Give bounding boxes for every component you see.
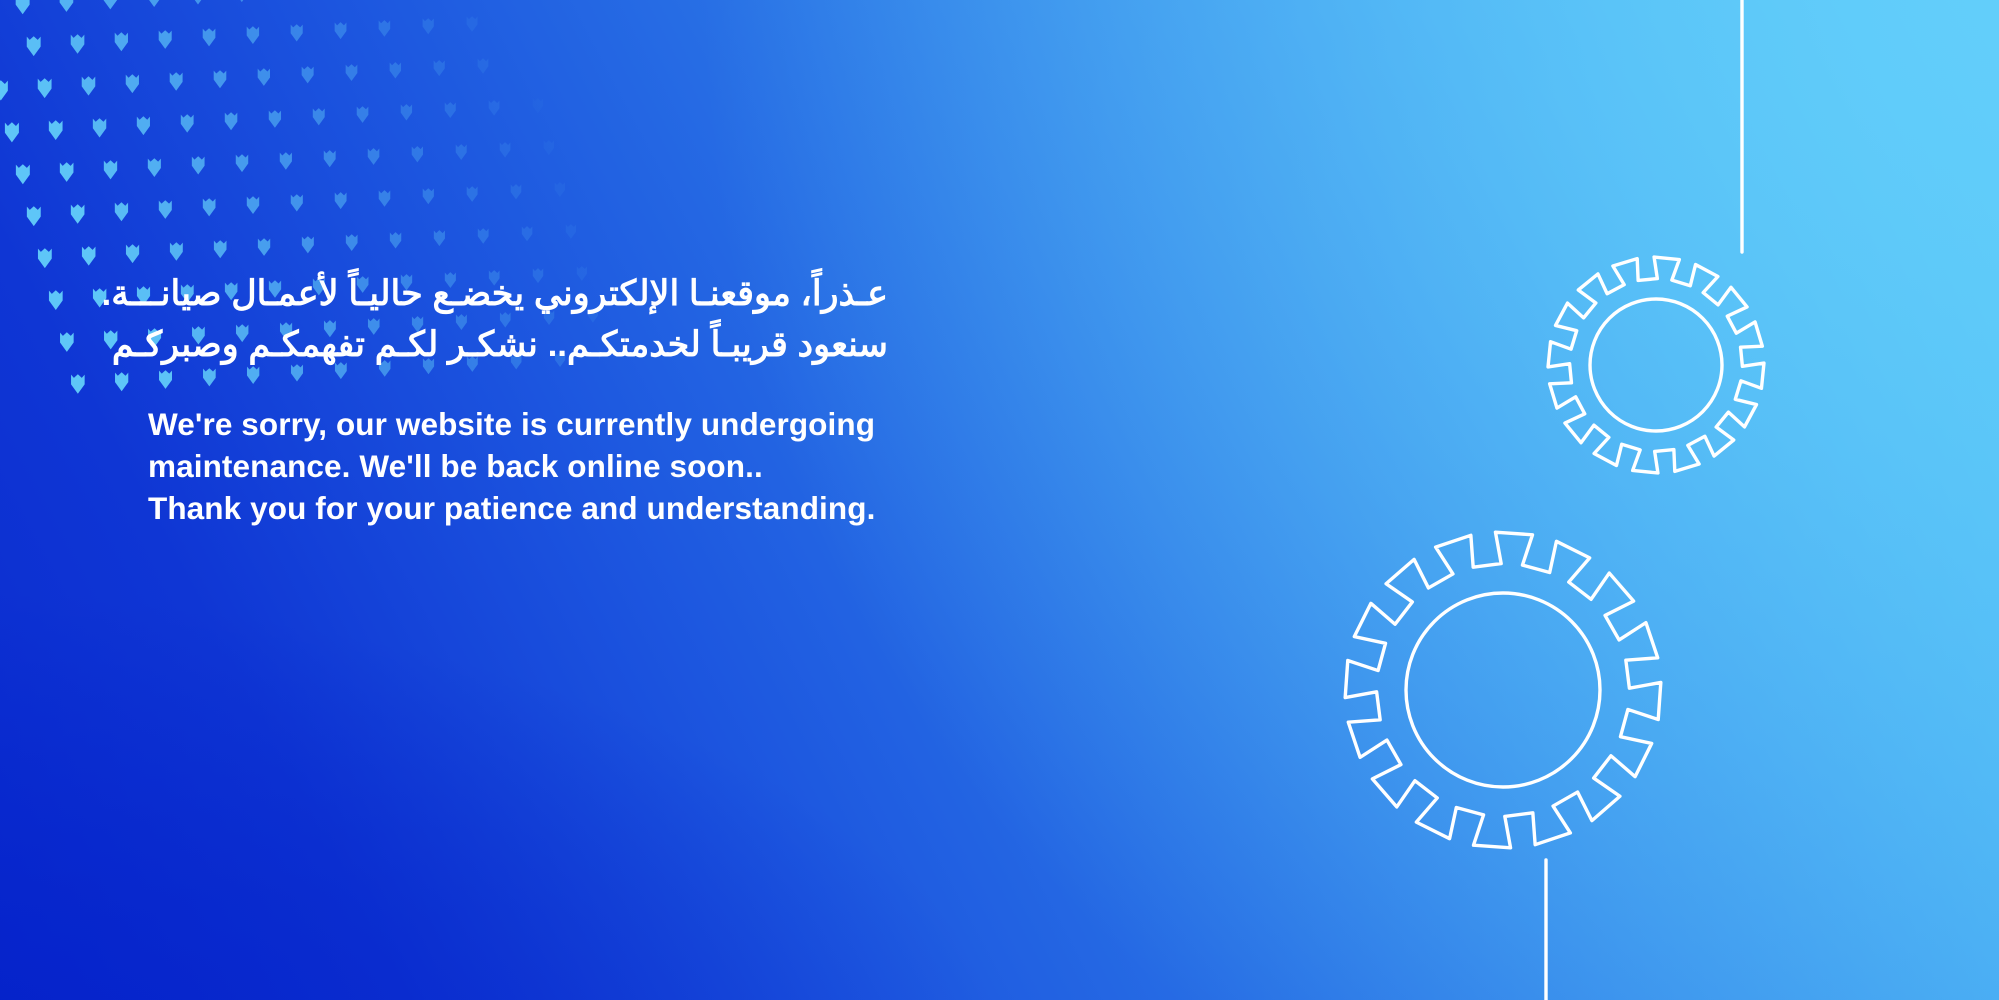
arabic-message-line-2: سنعود قريبـاً لخدمتكـم.. نشكـر لكـم تفهم… [148,319,888,370]
maintenance-page: عـذراً، موقعنـا الإلكتروني يخضـع حاليـاً… [0,0,1999,1000]
english-message-line-1: We're sorry, our website is currently un… [148,403,968,445]
english-message-line-3: Thank you for your patience and understa… [148,487,968,529]
english-message: We're sorry, our website is currently un… [148,403,968,529]
arabic-message: عـذراً، موقعنـا الإلكتروني يخضـع حاليـاً… [148,268,888,370]
arabic-message-line-1: عـذراً، موقعنـا الإلكتروني يخضـع حاليـاً… [148,268,888,319]
english-message-line-2: maintenance. We'll be back online soon.. [148,445,968,487]
